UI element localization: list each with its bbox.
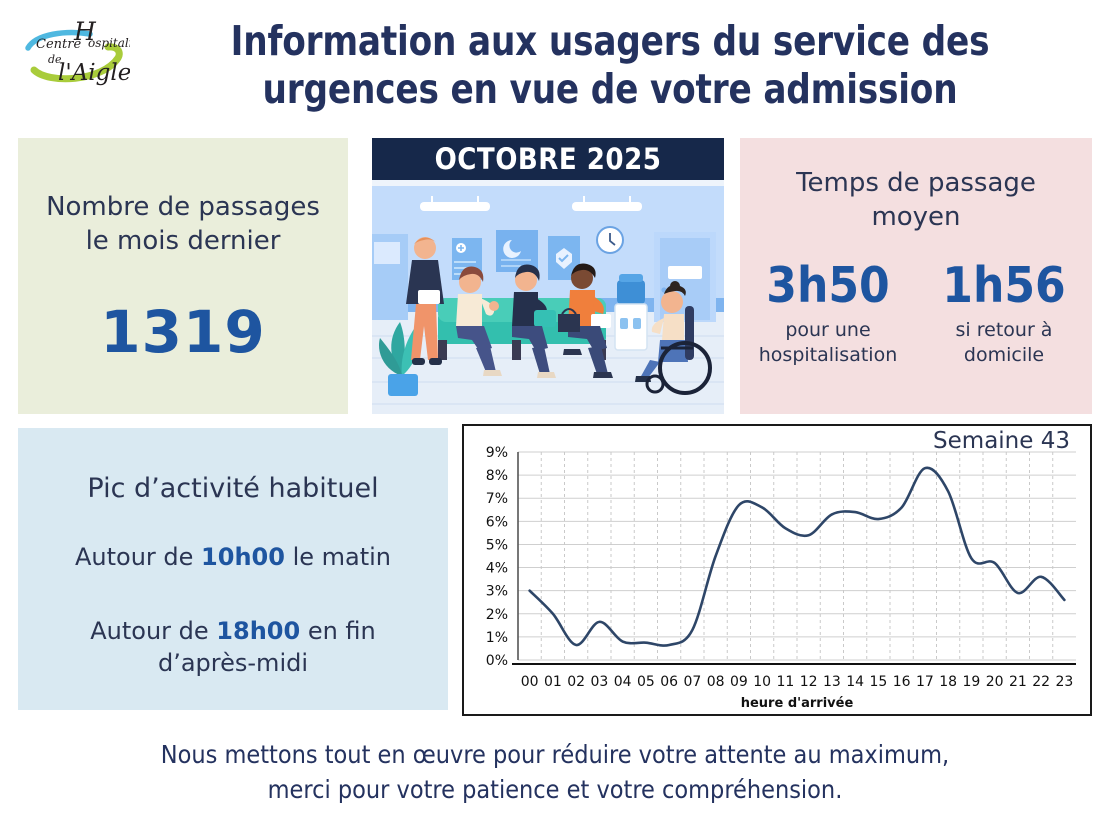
peak-morning-post: le matin bbox=[285, 543, 391, 571]
y-tick-label: 9% bbox=[486, 445, 508, 461]
x-tick-label: 00 bbox=[521, 674, 539, 690]
arrivals-chart-svg: 0%1%2%3%4%5%6%7%8%9%00010203040506070809… bbox=[464, 426, 1090, 714]
footer-line1: Nous mettons tout en œuvre pour réduire … bbox=[55, 738, 1055, 773]
water-cooler bbox=[615, 274, 647, 350]
stat-hospitalisation-sub-line1: pour une bbox=[740, 318, 916, 342]
peak-morning-pre: Autour de bbox=[75, 543, 201, 571]
y-tick-label: 6% bbox=[486, 514, 508, 530]
x-tick-label: 04 bbox=[614, 674, 632, 690]
peak-activity-card: Pic d’activité habituel Autour de 10h00 … bbox=[18, 428, 448, 710]
waiting-time-label: Temps de passage moyen bbox=[740, 166, 1092, 235]
y-tick-label: 8% bbox=[486, 468, 508, 484]
x-tick-label: 09 bbox=[730, 674, 748, 690]
x-tick-label: 10 bbox=[753, 674, 771, 690]
svg-text:l'Aigle: l'Aigle bbox=[58, 60, 130, 86]
svg-text:ospitalier: ospitalier bbox=[88, 36, 130, 50]
x-tick-label: 15 bbox=[869, 674, 887, 690]
passages-card: Nombre de passages le mois dernier 1319 bbox=[18, 138, 348, 414]
x-tick-label: 07 bbox=[683, 674, 701, 690]
x-tick-label: 22 bbox=[1032, 674, 1050, 690]
x-tick-label: 17 bbox=[916, 674, 934, 690]
footer-line2: merci pour votre patience et votre compr… bbox=[55, 773, 1055, 808]
waiting-time-card: Temps de passage moyen 3h50 pour une hos… bbox=[740, 138, 1092, 414]
month-banner: OCTOBRE 2025 bbox=[372, 138, 724, 180]
y-tick-label: 3% bbox=[486, 584, 508, 600]
illustration-card: OCTOBRE 2025 bbox=[372, 138, 724, 414]
y-tick-label: 2% bbox=[486, 607, 508, 623]
peak-evening-line-second: d’après-midi bbox=[18, 647, 448, 679]
peak-evening-line-first: Autour de 18h00 en fin bbox=[18, 615, 448, 647]
x-tick-label: 13 bbox=[823, 674, 841, 690]
passages-label-line1: Nombre de passages bbox=[18, 190, 348, 224]
page-title-line1: Information aux usagers du service des bbox=[173, 18, 1047, 66]
waiting-room-illustration bbox=[372, 186, 724, 414]
x-tick-label: 23 bbox=[1055, 674, 1073, 690]
y-tick-label: 5% bbox=[486, 537, 508, 553]
hospital-logo: Centre H ospitalier de l'Aigle bbox=[18, 18, 130, 90]
infographic-page: Centre H ospitalier de l'Aigle Informati… bbox=[0, 0, 1110, 832]
peak-evening-pre: Autour de bbox=[90, 617, 216, 645]
x-tick-label: 02 bbox=[567, 674, 585, 690]
y-tick-label: 1% bbox=[486, 630, 508, 646]
stat-hospitalisation-value: 3h50 bbox=[740, 260, 916, 311]
passages-label-line2: le mois dernier bbox=[18, 224, 348, 258]
page-title: Information aux usagers du service des u… bbox=[173, 18, 1047, 114]
x-tick-label: 12 bbox=[800, 674, 818, 690]
header: Centre H ospitalier de l'Aigle Informati… bbox=[0, 0, 1110, 125]
stat-domicile-value: 1h56 bbox=[916, 260, 1092, 311]
passages-label: Nombre de passages le mois dernier bbox=[18, 190, 348, 259]
stat-domicile-sub-line2: domicile bbox=[916, 343, 1092, 367]
peak-morning-line: Autour de 10h00 le matin bbox=[18, 543, 448, 571]
x-axis-label: heure d'arrivée bbox=[741, 696, 854, 711]
x-tick-label: 18 bbox=[939, 674, 957, 690]
x-tick-label: 19 bbox=[962, 674, 980, 690]
stat-domicile: 1h56 si retour à domicile bbox=[916, 260, 1092, 367]
y-tick-label: 4% bbox=[486, 561, 508, 577]
waiting-time-label-line1: Temps de passage bbox=[740, 166, 1092, 200]
stat-hospitalisation: 3h50 pour une hospitalisation bbox=[740, 260, 916, 367]
chart-annotation: Semaine 43 bbox=[933, 428, 1070, 454]
x-tick-label: 03 bbox=[590, 674, 608, 690]
stat-hospitalisation-sub: pour une hospitalisation bbox=[740, 318, 916, 367]
stat-hospitalisation-sub-line2: hospitalisation bbox=[740, 343, 916, 367]
y-tick-label: 7% bbox=[486, 491, 508, 507]
footer-message: Nous mettons tout en œuvre pour réduire … bbox=[55, 738, 1055, 807]
waiting-time-label-line2: moyen bbox=[740, 200, 1092, 234]
peak-evening-time: 18h00 bbox=[216, 617, 300, 645]
y-tick-label: 0% bbox=[486, 653, 508, 669]
x-tick-label: 16 bbox=[893, 674, 911, 690]
peak-evening-line: Autour de 18h00 en fin d’après-midi bbox=[18, 615, 448, 680]
x-tick-label: 20 bbox=[986, 674, 1004, 690]
x-tick-label: 06 bbox=[660, 674, 678, 690]
stat-domicile-sub: si retour à domicile bbox=[916, 318, 1092, 367]
peak-evening-post: en fin bbox=[300, 617, 376, 645]
x-tick-label: 11 bbox=[776, 674, 794, 690]
waiting-time-stats: 3h50 pour une hospitalisation 1h56 si re… bbox=[740, 260, 1092, 367]
x-tick-label: 05 bbox=[637, 674, 655, 690]
logo-icon: Centre H ospitalier de l'Aigle bbox=[18, 18, 130, 90]
waiting-room-icon bbox=[372, 186, 724, 414]
peak-activity-heading: Pic d’activité habituel bbox=[18, 473, 448, 504]
x-tick-label: 08 bbox=[707, 674, 725, 690]
page-title-line2: urgences en vue de votre admission bbox=[173, 66, 1047, 114]
x-tick-label: 21 bbox=[1009, 674, 1027, 690]
x-tick-label: 01 bbox=[544, 674, 562, 690]
arrivals-chart: 0%1%2%3%4%5%6%7%8%9%00010203040506070809… bbox=[462, 424, 1092, 716]
stat-domicile-sub-line1: si retour à bbox=[916, 318, 1092, 342]
passages-value: 1319 bbox=[18, 298, 348, 366]
peak-morning-time: 10h00 bbox=[201, 543, 285, 571]
x-tick-label: 14 bbox=[846, 674, 864, 690]
